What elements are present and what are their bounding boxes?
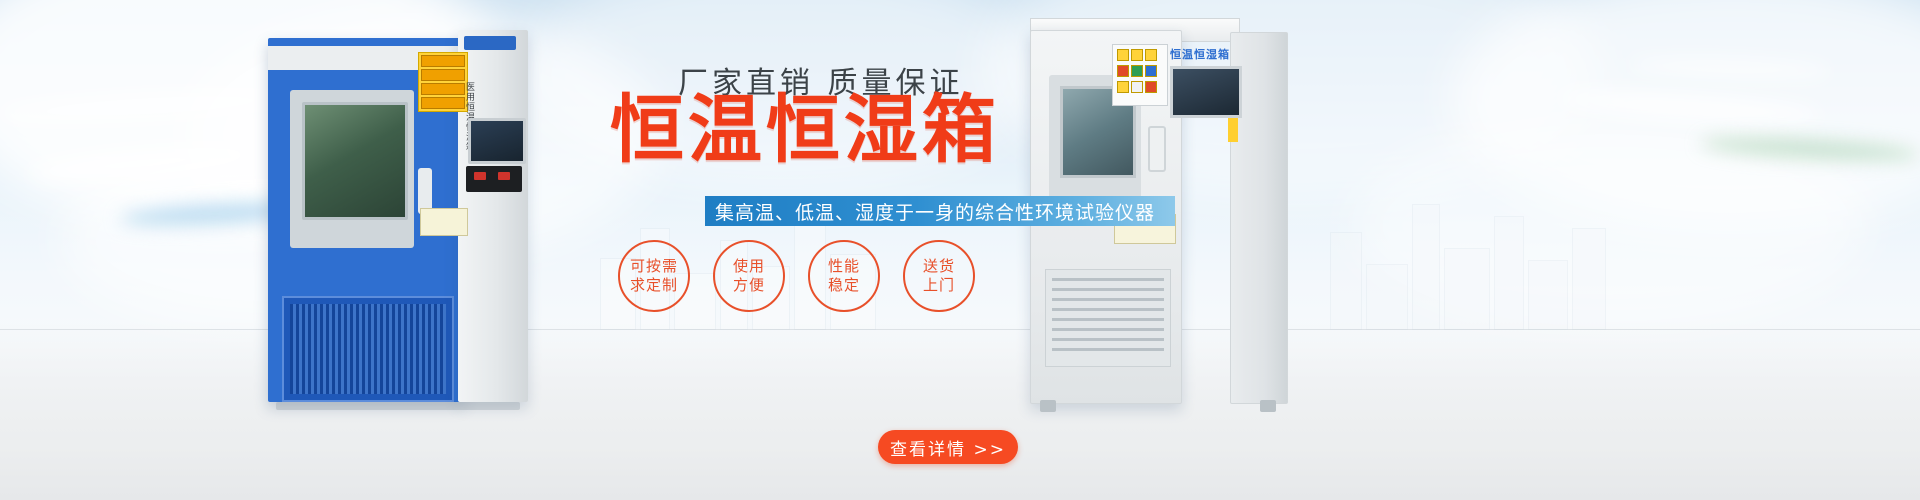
left-machine-button-panel (466, 166, 522, 192)
right-machine-handle (1148, 126, 1166, 172)
left-machine-vent-grille (290, 304, 446, 394)
left-machine-shadow (276, 402, 520, 410)
cloud-streak (29, 140, 260, 186)
feature-circle: 性能 稳定 (808, 240, 880, 312)
left-machine-window (302, 102, 408, 220)
left-machine-lower-panel (282, 296, 454, 402)
cloud-streak (1700, 134, 1920, 163)
left-machine-warning-labels (418, 52, 468, 112)
feature-line-1: 使用 (733, 257, 765, 276)
product-image-left: 医用恒温恒湿箱 (268, 30, 528, 402)
left-machine-door (290, 90, 414, 248)
banner-headline: 恒温恒湿箱 (610, 90, 1000, 170)
banner-copy-block: 厂家直销 质量保证 恒温恒湿箱 集高温、低温、湿度于一身的综合性环境试验仪器 可… (560, 40, 1080, 480)
cloud-streak (0, 87, 300, 125)
left-machine-brand-logo (464, 36, 516, 50)
right-machine-foot (1260, 400, 1276, 412)
promo-banner: 医用恒温恒湿箱 恒温恒湿箱 (0, 0, 1920, 500)
feature-line-1: 可按需 (630, 257, 678, 276)
feature-circle: 使用 方便 (713, 240, 785, 312)
feature-circle: 可按需 求定制 (618, 240, 690, 312)
feature-line-1: 送货 (923, 257, 955, 276)
right-machine-name-plate: 恒温恒湿箱 (1170, 46, 1232, 62)
feature-line-1: 性能 (828, 257, 860, 276)
left-machine-display (468, 118, 526, 164)
cloud-streak (1630, 57, 1830, 80)
view-details-button[interactable]: 查看详情 >> (878, 430, 1018, 464)
left-machine-nameplate (420, 208, 468, 236)
cloud-streak (1559, 86, 1820, 128)
feature-line-2: 上门 (923, 276, 955, 295)
feature-line-2: 稳定 (828, 276, 860, 295)
city-silhouette (1330, 180, 1630, 330)
banner-subtitle-text: 集高温、低温、湿度于一身的综合性环境试验仪器 (705, 198, 1155, 225)
banner-subtitle-bar: 集高温、低温、湿度于一身的综合性环境试验仪器 (705, 196, 1175, 226)
right-machine-warning-labels (1112, 44, 1168, 106)
feature-line-2: 求定制 (630, 276, 678, 295)
feature-circle-group: 可按需 求定制 使用 方便 性能 稳定 送货 上门 (608, 240, 988, 340)
right-machine-display (1170, 66, 1242, 118)
feature-circle: 送货 上门 (903, 240, 975, 312)
feature-line-2: 方便 (733, 276, 765, 295)
